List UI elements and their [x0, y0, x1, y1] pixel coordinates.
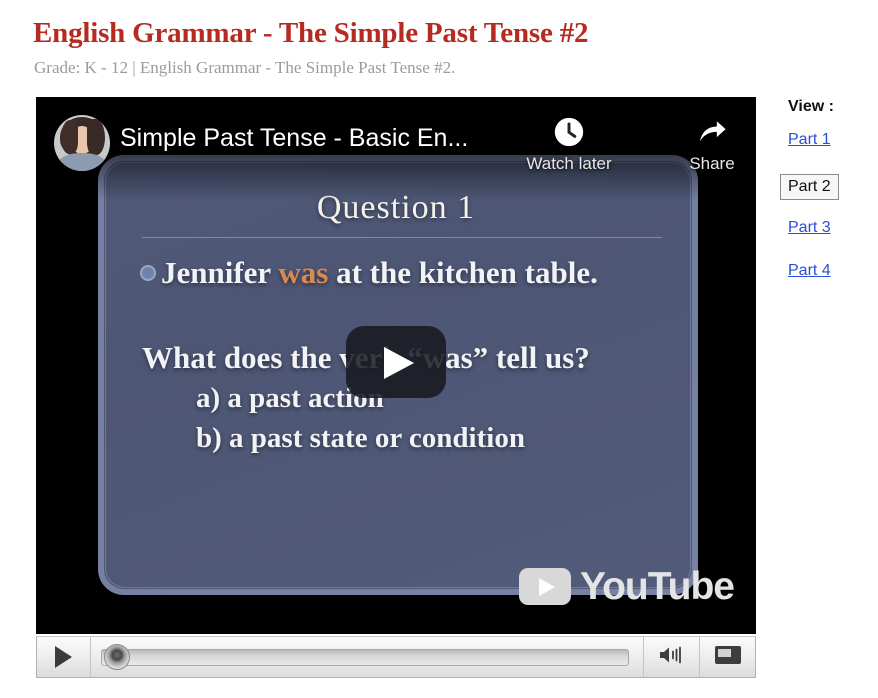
view-link-part-1[interactable]: Part 1 [788, 131, 878, 149]
volume-button[interactable] [643, 637, 699, 677]
scrubber[interactable] [91, 637, 643, 677]
youtube-watermark[interactable]: YouTube [519, 567, 734, 606]
page-subtitle: Grade: K - 12 | English Grammar - The Si… [34, 58, 455, 78]
play-triangle-icon [384, 347, 414, 379]
youtube-header-bar: Simple Past Tense - Basic En... Watch la… [36, 97, 756, 201]
channel-avatar[interactable] [54, 115, 110, 171]
statement-highlight: was [278, 255, 328, 290]
fullscreen-button[interactable] [699, 637, 755, 677]
watch-later-button[interactable]: Watch later [514, 115, 624, 174]
page-title: English Grammar - The Simple Past Tense … [33, 17, 588, 50]
avatar-hair-left [61, 120, 78, 154]
player-control-bar [36, 636, 756, 678]
youtube-play-icon [519, 568, 571, 605]
avatar-hair-right [87, 119, 105, 155]
page-root: English Grammar - The Simple Past Tense … [0, 0, 878, 698]
volume-icon [657, 644, 687, 671]
view-link-part-4[interactable]: Part 4 [788, 262, 878, 280]
clock-icon [514, 115, 624, 149]
share-button[interactable]: Share [668, 115, 756, 174]
statement-before: Jennifer [161, 255, 278, 290]
question-statement: Jennifer was at the kitchen table. [142, 255, 702, 291]
view-label: View : [788, 98, 878, 116]
answer-option-b: b) a past state or condition [196, 422, 525, 455]
divider [142, 237, 662, 238]
statement-after: at the kitchen table. [328, 255, 598, 290]
share-arrow-icon [668, 115, 756, 149]
scrubber-thumb[interactable] [104, 644, 130, 670]
share-label: Share [668, 154, 756, 174]
view-link-part-3[interactable]: Part 3 [788, 219, 878, 237]
video-player[interactable]: Question 1 Jennifer was at the kitchen t… [36, 97, 756, 634]
play-button[interactable] [37, 637, 91, 677]
play-overlay-button[interactable] [346, 326, 446, 398]
watch-later-label: Watch later [514, 154, 624, 174]
view-link-part-2: Part 2 [780, 174, 839, 200]
view-parts-panel: View : Part 1 Part 2 Part 3 Part 4 [788, 98, 878, 305]
bullet-icon [142, 267, 154, 279]
youtube-wordmark: YouTube [580, 567, 734, 606]
avatar-body [58, 153, 106, 171]
video-title[interactable]: Simple Past Tense - Basic En... [120, 124, 468, 153]
scrubber-track[interactable] [101, 649, 629, 666]
fullscreen-icon [713, 644, 743, 671]
play-icon [55, 646, 72, 668]
